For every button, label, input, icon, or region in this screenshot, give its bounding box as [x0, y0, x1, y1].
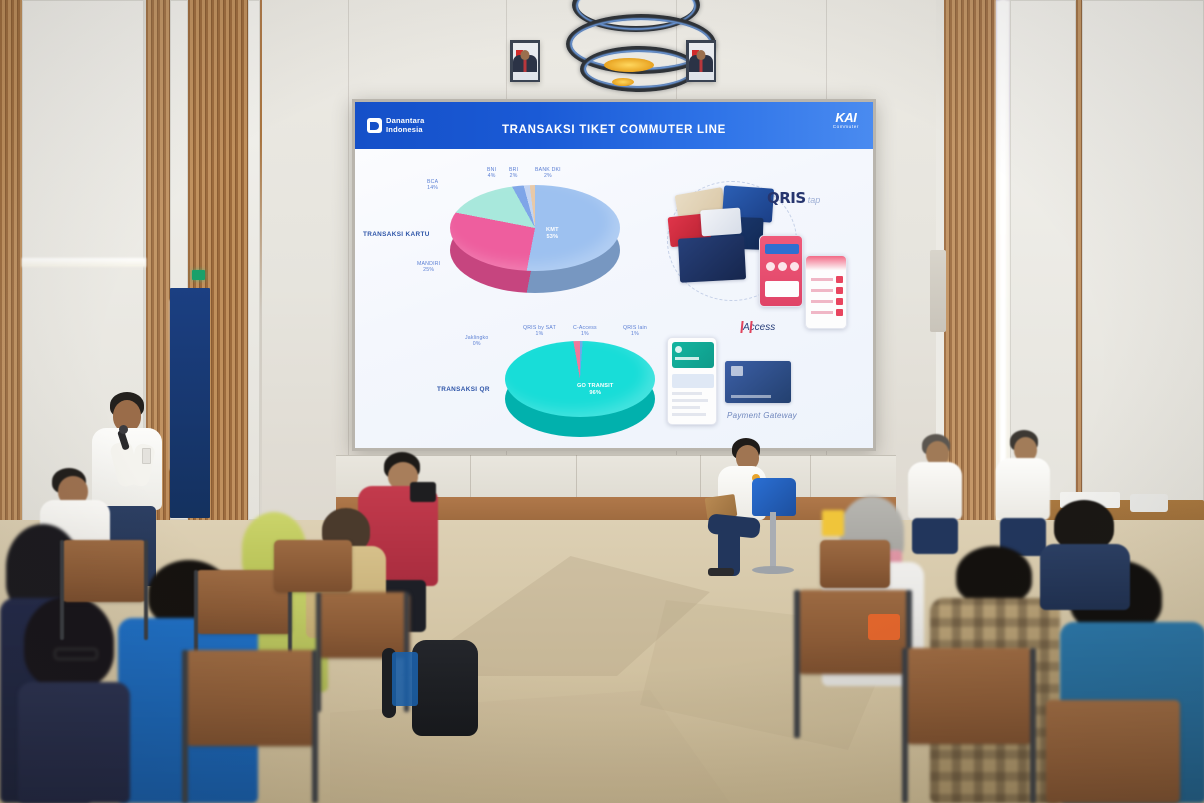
- pie-qr-top: [505, 341, 655, 417]
- payment-card-kmt: [678, 235, 746, 282]
- wall-fixture: [930, 250, 946, 332]
- pie-label-mandiri: MANDIRI25%: [417, 261, 440, 273]
- kai-logo-main: KAI: [833, 111, 859, 124]
- bar-stool-base: [752, 566, 794, 574]
- pie-label-bni: BNI4%: [487, 167, 496, 179]
- pie-chart-kartu: KMT53%: [450, 185, 620, 295]
- payment-card-flazz: [700, 208, 742, 237]
- slide-content: Danantara Indonesia TRANSAKSI TIKET COMM…: [355, 102, 873, 448]
- pie-label-qris-sat: QRIS by SAT1%: [523, 325, 556, 337]
- pie-label-bank-dki: BANK DKI2%: [535, 167, 561, 179]
- pie-chart-qr: GO TRANSIT96%: [505, 341, 655, 435]
- transaksi-kartu-label: TRANSAKSI KARTU: [363, 231, 430, 238]
- access-logo-mark: [740, 321, 752, 333]
- pie-label-qris-lain: QRIS lain1%: [623, 325, 647, 337]
- payment-gateway-label: Payment Gateway: [727, 411, 797, 420]
- table-items-cups: [1130, 494, 1168, 512]
- attendee-navy-right: [1040, 500, 1130, 610]
- eyeglasses: [54, 648, 98, 660]
- orange-bag: [868, 614, 900, 640]
- conference-room-photo: Danantara Indonesia TRANSAKSI TIKET COMM…: [0, 0, 1204, 803]
- vice-president-portrait: [686, 40, 716, 82]
- pie-label-bca: BCA14%: [427, 179, 438, 191]
- chandelier-lamp: [604, 58, 654, 72]
- slide-title: TRANSAKSI TIKET COMMUTER LINE: [355, 124, 873, 136]
- qris-logo-sub: tap: [808, 195, 821, 205]
- blue-bag: [392, 652, 418, 706]
- pie-kartu-top: [450, 185, 620, 271]
- wall-panel: [248, 0, 260, 520]
- kai-logo-sub: Commuter: [833, 124, 859, 129]
- payment-receipt-list: [805, 255, 847, 329]
- id-badge: [142, 448, 151, 464]
- emergency-exit-sign: [192, 270, 205, 280]
- slide-body: TRANSAKSI KARTU KMT53% BCA14% BNI4% BRI2…: [355, 149, 873, 448]
- transaksi-qr-label: TRANSAKSI QR: [437, 386, 490, 393]
- wall-light-strip: [22, 258, 146, 267]
- bar-stool-post: [770, 512, 776, 570]
- wall-panel: [1082, 0, 1204, 540]
- payment-card-blue: [725, 361, 791, 403]
- sandal: [708, 568, 734, 576]
- attendee-glasses-left: [18, 596, 128, 803]
- pie-slice-label-kmt: KMT53%: [546, 227, 559, 240]
- payment-device-pink: [759, 235, 803, 307]
- qris-logo: QRIS tap: [767, 189, 820, 207]
- qris-logo-text: QRIS: [767, 189, 806, 207]
- slide-header: Danantara Indonesia TRANSAKSI TIKET COMM…: [355, 102, 873, 149]
- pie-slice-label-go-transit: GO TRANSIT96%: [577, 383, 614, 396]
- presentation-screen: Danantara Indonesia TRANSAKSI TIKET COMM…: [352, 99, 876, 451]
- yellow-cup: [822, 510, 844, 536]
- bar-stool-seat: [752, 478, 796, 516]
- chandelier-lamp: [612, 78, 634, 86]
- president-portrait: [510, 40, 540, 82]
- blue-door: [170, 288, 210, 518]
- pie-label-bri: BRI2%: [509, 167, 518, 179]
- kai-commuter-logo: KAI Commuter: [833, 111, 859, 129]
- camera: [410, 482, 436, 502]
- microphone-head: [119, 425, 128, 434]
- pie-label-c-access: C-Access1%: [573, 325, 597, 337]
- backpack: [412, 640, 478, 736]
- mobile-app-phone: [667, 337, 717, 425]
- pie-label-jaklingko: Jaklingko0%: [465, 335, 488, 347]
